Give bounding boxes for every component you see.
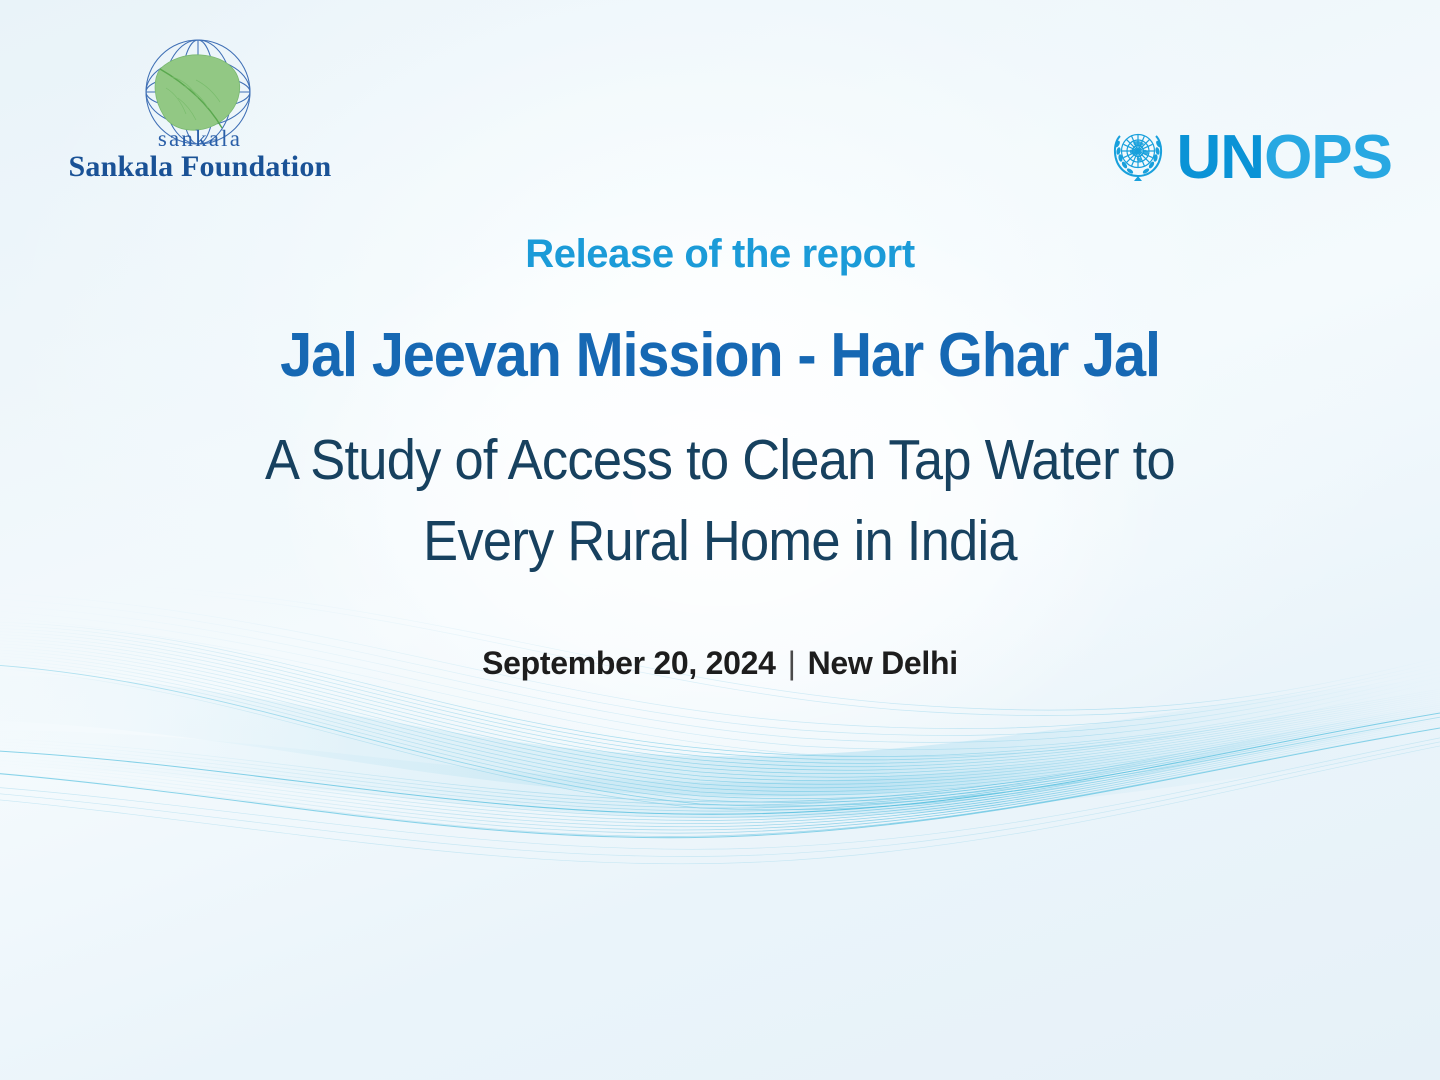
- page-subtitle: A Study of Access to Clean Tap Water to …: [58, 420, 1383, 582]
- subtitle-line-2: Every Rural Home in India: [58, 501, 1383, 582]
- title-slide: sankala Sankala Foundation: [0, 0, 1440, 1080]
- unops-wordmark: UNOPS: [1177, 127, 1393, 189]
- subtitle-line-1: A Study of Access to Clean Tap Water to: [58, 420, 1383, 501]
- wave-decoration: [0, 580, 1440, 910]
- sankala-globe-leaf-icon: sankala: [50, 34, 350, 152]
- meta-separator: |: [776, 645, 808, 681]
- event-date: September 20, 2024: [482, 645, 775, 681]
- eyebrow-text: Release of the report: [0, 232, 1440, 277]
- sankala-foundation-logo: sankala Sankala Foundation: [50, 34, 350, 184]
- un-emblem-icon: [1107, 126, 1169, 189]
- unops-logo: UNOPS: [1107, 126, 1393, 189]
- event-meta: September 20, 2024|New Delhi: [0, 645, 1440, 682]
- event-location: New Delhi: [808, 645, 958, 681]
- sankala-mark-label: sankala: [158, 126, 242, 151]
- unops-ops-text: OPS: [1264, 123, 1392, 192]
- unops-un-text: UN: [1177, 123, 1265, 192]
- page-title: Jal Jeevan Mission - Har Ghar Jal: [50, 320, 1389, 391]
- sankala-foundation-name: Sankala Foundation: [50, 150, 350, 184]
